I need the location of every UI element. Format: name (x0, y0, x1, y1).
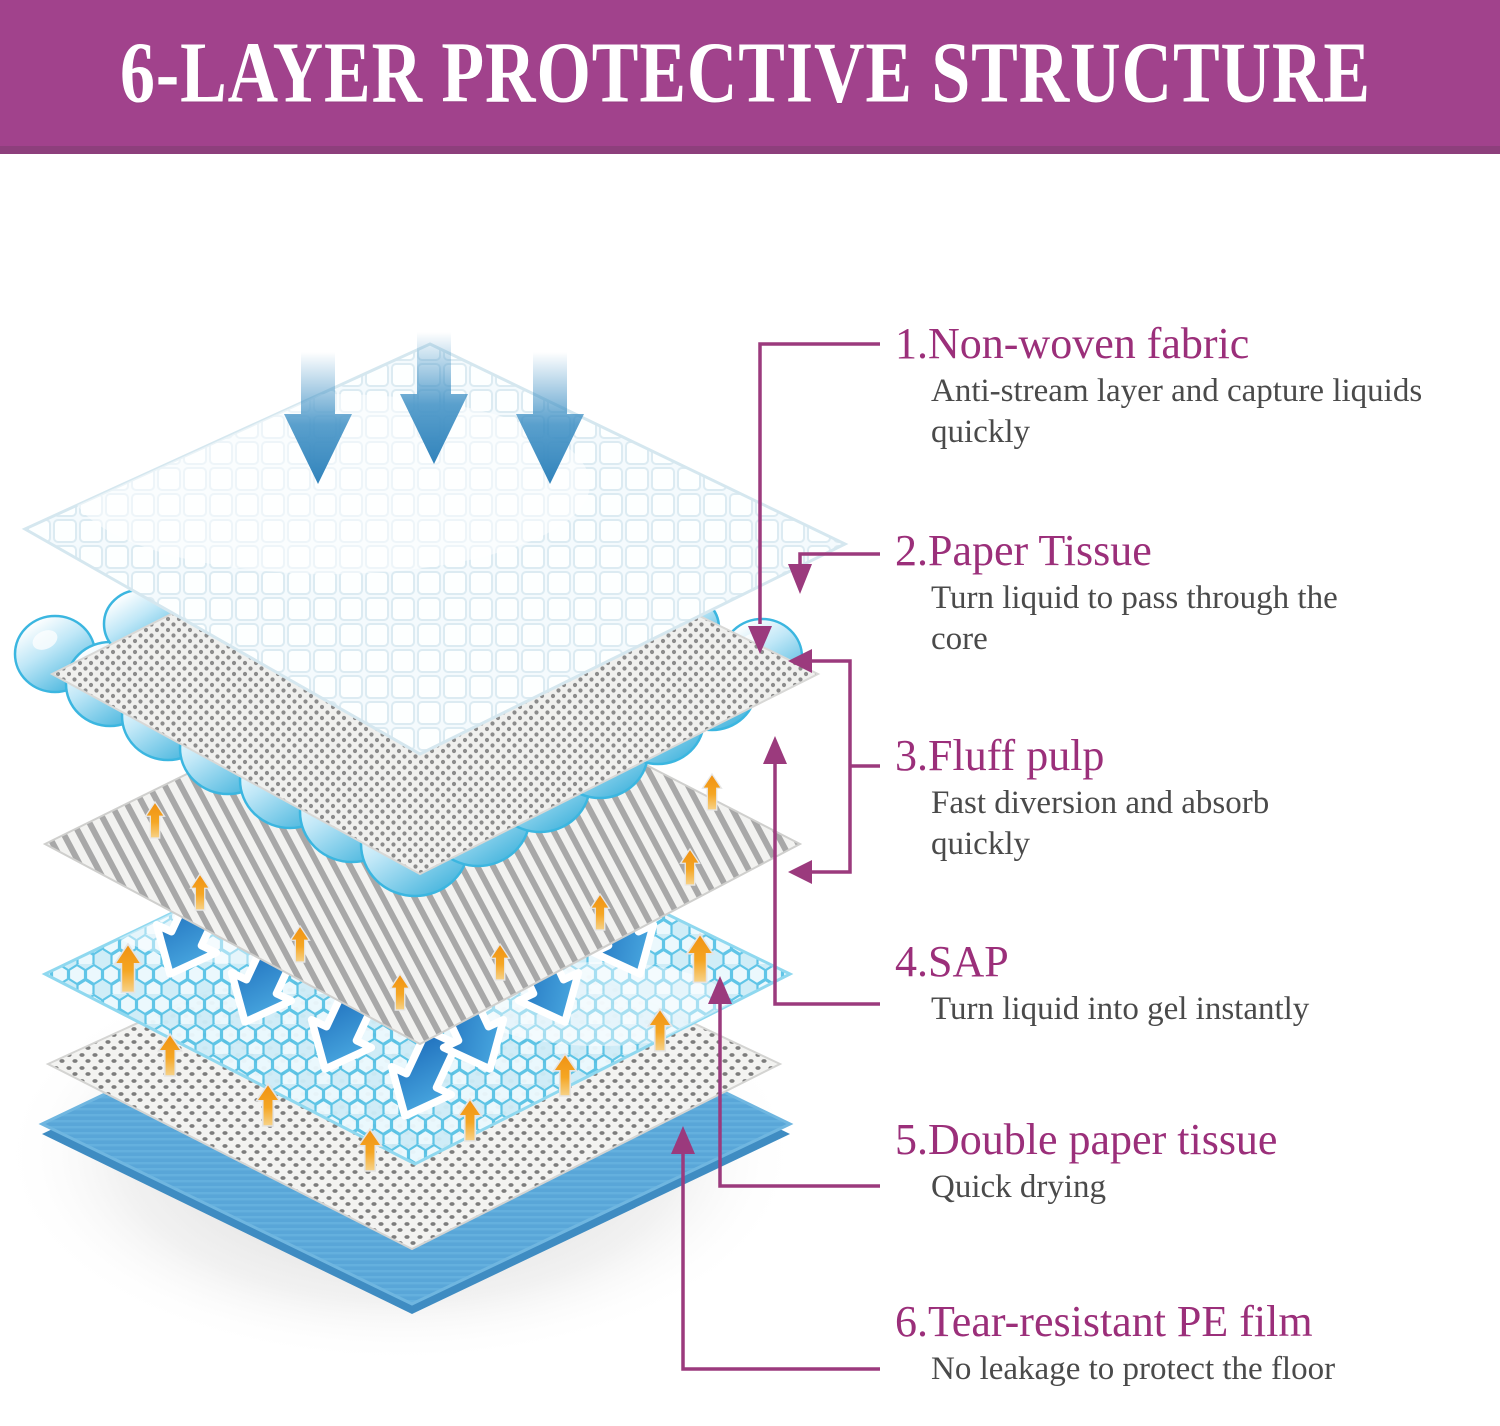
label-title-5: 5.Double paper tissue (895, 1118, 1277, 1163)
label-desc-4: Turn liquid into gel instantly (931, 989, 1309, 1031)
top-absorption-arrows (284, 332, 584, 484)
label-desc-6: No leakage to protect the floor (931, 1349, 1335, 1391)
label-block-1: 1.Non-woven fabric Anti-stream layer and… (895, 322, 1431, 454)
label-block-5: 5.Double paper tissue Quick drying (895, 1118, 1277, 1208)
header-banner: 6-LAYER PROTECTIVE STRUCTURE (0, 0, 1500, 146)
page-title: 6-LAYER PROTECTIVE STRUCTURE (120, 23, 1371, 122)
label-title-1: 1.Non-woven fabric (895, 322, 1431, 367)
header-underline-divider (0, 146, 1500, 154)
label-block-3: 3.Fluff pulp Fast diversion and absorb q… (895, 734, 1361, 866)
label-desc-2: Turn liquid to pass through the core (931, 578, 1401, 661)
label-title-2: 2.Paper Tissue (895, 529, 1401, 574)
layer-stack-illustration (0, 154, 900, 1426)
label-title-3: 3.Fluff pulp (895, 734, 1361, 779)
label-desc-1: Anti-stream layer and capture liquids qu… (931, 371, 1431, 454)
label-title-6: 6.Tear-resistant PE film (895, 1300, 1335, 1345)
label-desc-5: Quick drying (931, 1167, 1277, 1209)
label-title-4: 4.SAP (895, 940, 1309, 985)
label-desc-3: Fast diversion and absorb quickly (931, 783, 1361, 866)
label-block-4: 4.SAP Turn liquid into gel instantly (895, 940, 1309, 1030)
label-block-2: 2.Paper Tissue Turn liquid to pass throu… (895, 529, 1401, 661)
label-block-6: 6.Tear-resistant PE film No leakage to p… (895, 1300, 1335, 1390)
